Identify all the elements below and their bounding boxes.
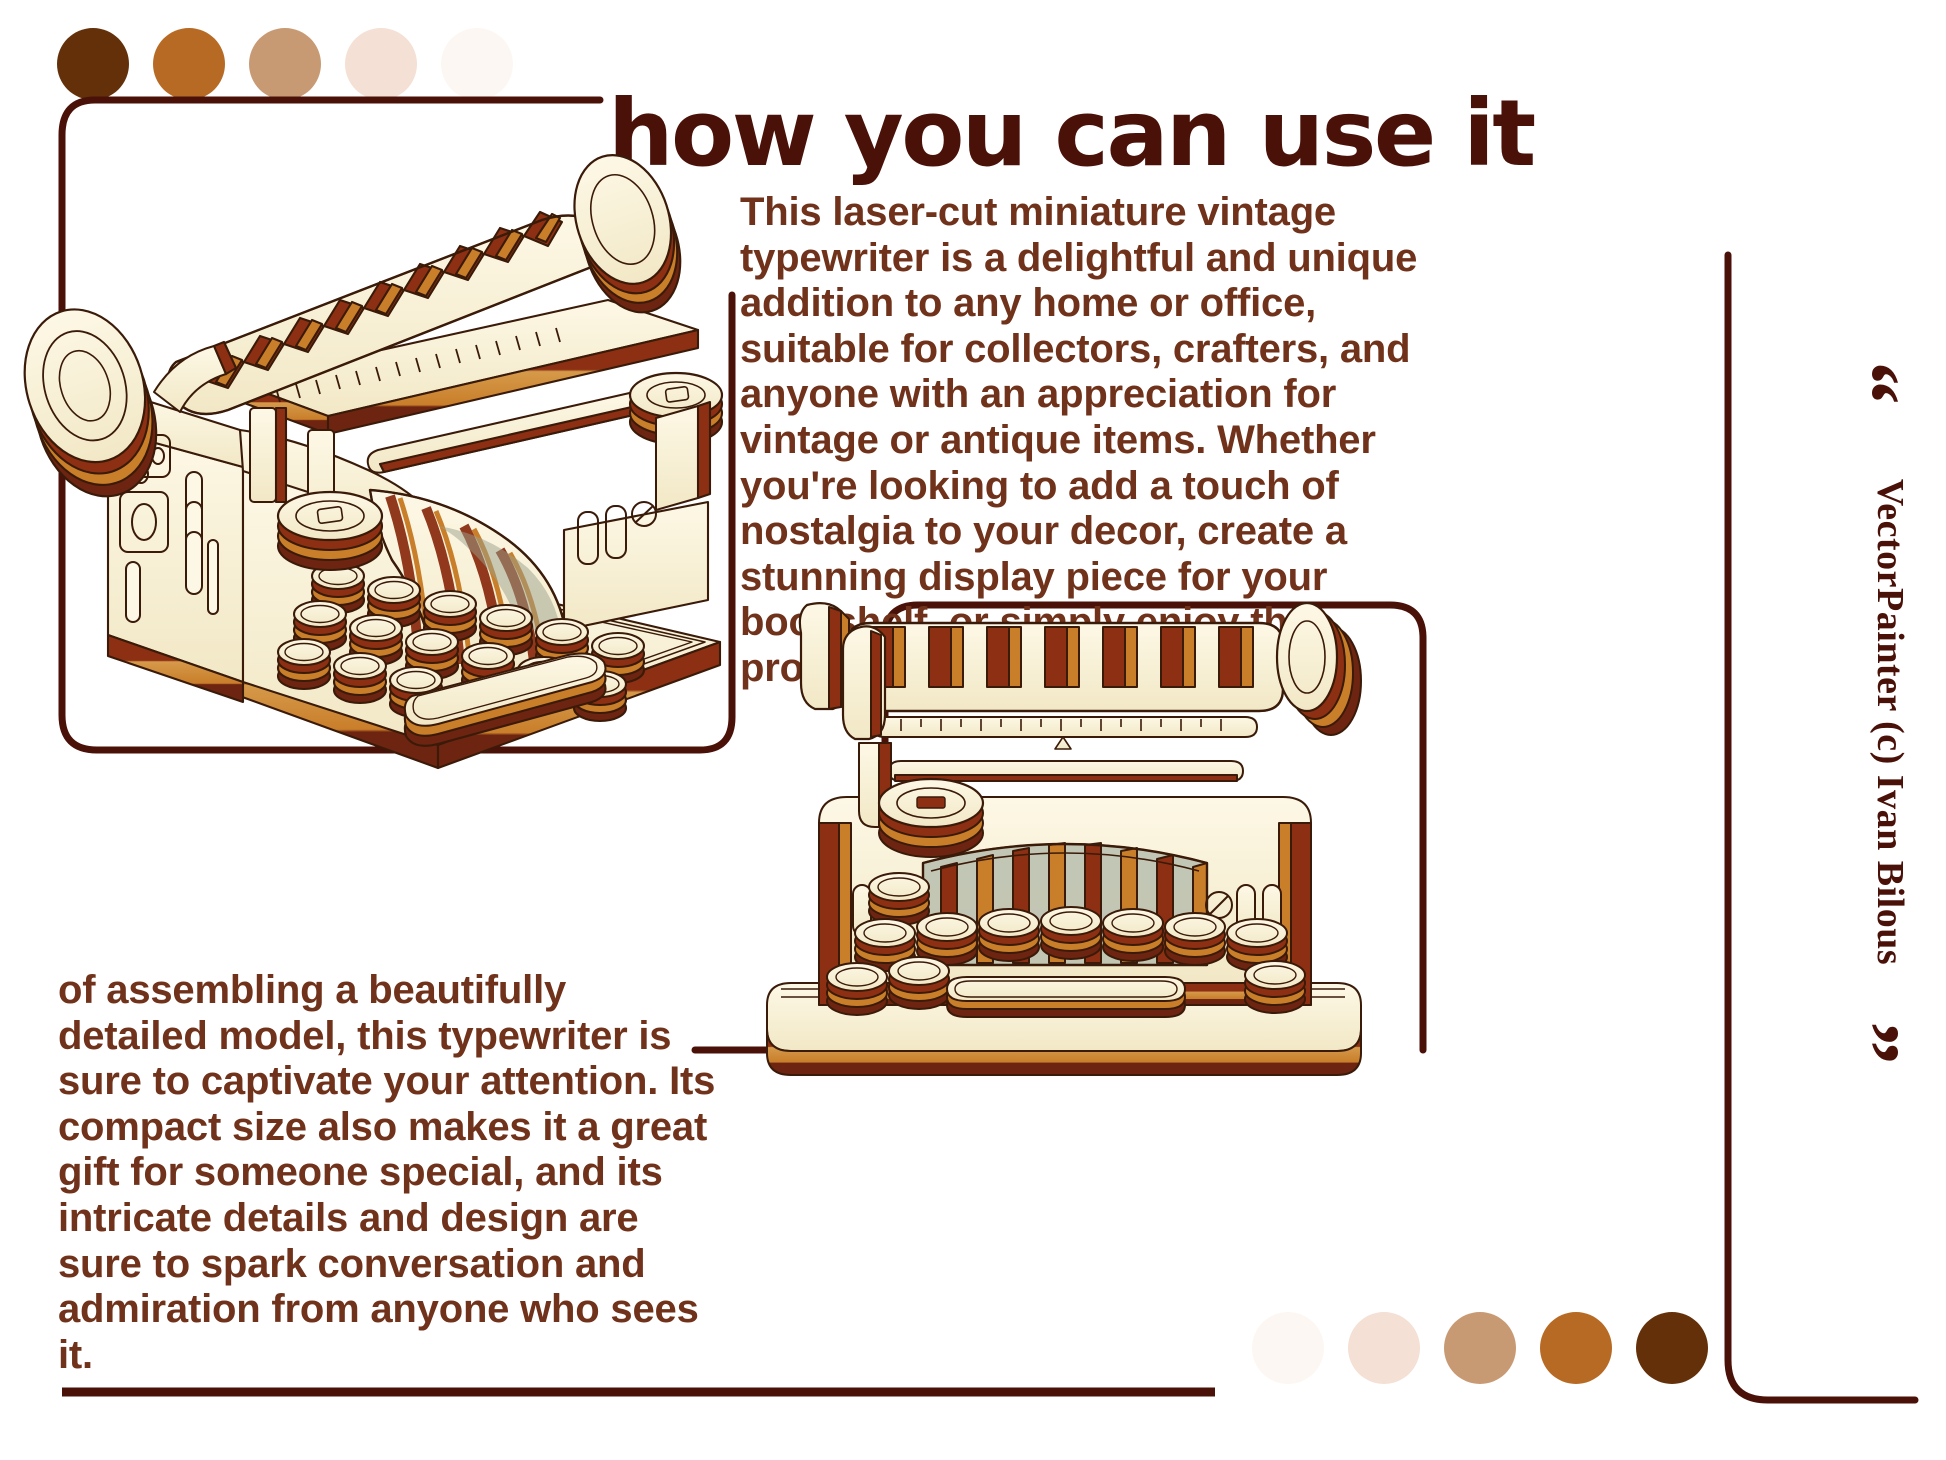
credit-block: “ VectorPainter (c) Ivan Bilous ” bbox=[1810, 300, 1930, 1120]
swatch-blush bbox=[345, 28, 417, 100]
credit-text: VectorPainter (c) Ivan Bilous bbox=[1868, 422, 1912, 1022]
swatch-cream bbox=[1252, 1312, 1324, 1384]
swatch-amber-brown bbox=[153, 28, 225, 100]
swatch-tan bbox=[249, 28, 321, 100]
poster-canvas: how you can use it This laser-cut miniat… bbox=[0, 0, 1946, 1460]
swatch-blush bbox=[1348, 1312, 1420, 1384]
swatch-tan bbox=[1444, 1312, 1516, 1384]
typewriter-illustration-right bbox=[745, 585, 1385, 1085]
swatch-amber-brown bbox=[1540, 1312, 1612, 1384]
swatch-dark-brown bbox=[1636, 1312, 1708, 1384]
quote-close-icon: ” bbox=[1827, 993, 1913, 1093]
quote-open-icon: “ bbox=[1827, 333, 1913, 433]
page-title: how you can use it bbox=[608, 92, 1908, 177]
frame-bottom-rule bbox=[0, 1380, 1280, 1420]
swatch-cream bbox=[441, 28, 513, 100]
color-palette-bottom bbox=[1252, 1312, 1708, 1384]
description-paragraph-bottom: of assembling a beautifully detailed mod… bbox=[58, 968, 718, 1378]
color-palette-top bbox=[57, 28, 513, 100]
swatch-dark-brown bbox=[57, 28, 129, 100]
typewriter-illustration-left bbox=[8, 130, 738, 790]
